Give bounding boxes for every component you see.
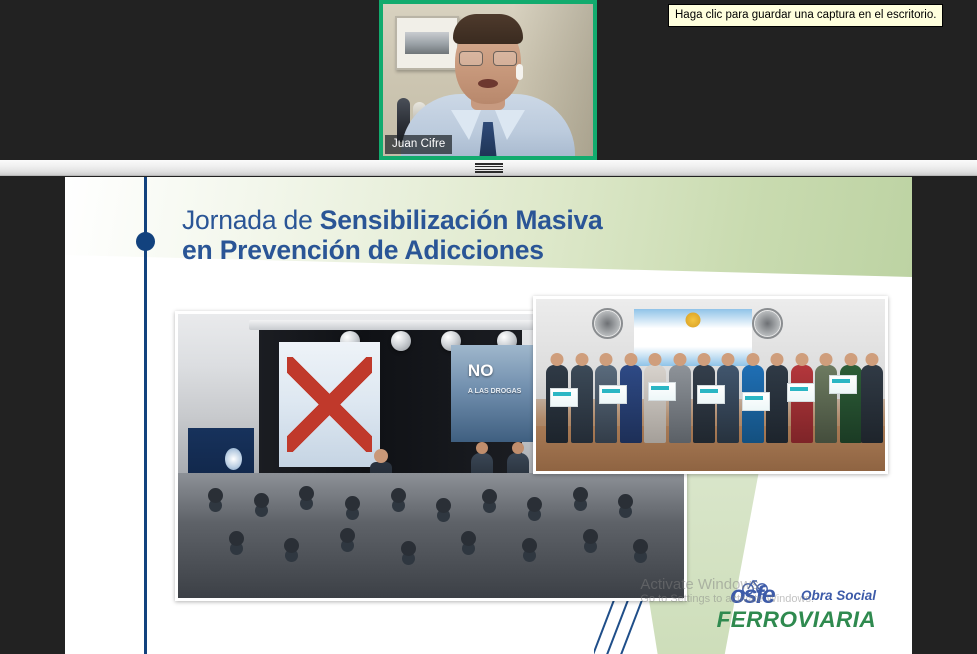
hair	[453, 14, 523, 44]
drag-handle-icon[interactable]	[475, 163, 503, 173]
audience-seating	[178, 473, 684, 598]
video-strip: Juan Cifre Haga clic para guardar una ca…	[0, 0, 977, 160]
panel-splitter[interactable]	[0, 160, 977, 176]
ceiling-fan-icon	[592, 308, 623, 339]
shared-screen-stage[interactable]: Jornada de Sensibilización Masiva en Pre…	[0, 177, 977, 654]
mouth	[478, 79, 498, 88]
osfe-logo-organization: FERROVIARIA	[676, 608, 876, 632]
slide-title-line1-bold: Sensibilización Masiva	[320, 205, 603, 235]
glasses-icon	[459, 51, 517, 64]
slide-title: Jornada de Sensibilización Masiva en Pre…	[182, 205, 822, 265]
group-certificates-photo	[533, 296, 888, 474]
osfe-logo: osfe Obra Social FERROVIARIA	[676, 581, 876, 632]
group-scene	[536, 299, 885, 471]
screenshot-tooltip: Haga clic para guardar una captura en el…	[668, 4, 943, 27]
letterbox-right	[912, 177, 977, 654]
osfe-logo-mark: osfe	[708, 581, 796, 609]
stage-lamp	[391, 331, 411, 351]
bicycle-icon	[742, 576, 768, 596]
letterbox-left	[0, 177, 65, 654]
flag-sun-icon	[686, 312, 701, 327]
earbud-icon	[516, 64, 523, 80]
banner-text-no: NO	[468, 363, 494, 379]
slide-title-line1-regular: Jornada de	[182, 205, 320, 235]
app-window: Juan Cifre Haga clic para guardar una ca…	[0, 0, 977, 654]
presentation-slide: Jornada de Sensibilización Masiva en Pre…	[65, 177, 912, 654]
slide-title-line2: en Prevención de Adicciones	[182, 235, 822, 265]
slide-accent-node	[136, 232, 155, 251]
osfe-logo-subtitle: Obra Social	[801, 588, 876, 603]
participant-name-badge: Juan Cifre	[385, 135, 452, 154]
banner-campaign-left	[279, 342, 380, 467]
ceiling-fan-icon	[752, 308, 783, 339]
banner-subtext-no: A LAS DROGAS	[468, 388, 521, 396]
video-tile-juan-cifre[interactable]: Juan Cifre	[379, 0, 597, 160]
webcam-feed	[383, 4, 593, 156]
